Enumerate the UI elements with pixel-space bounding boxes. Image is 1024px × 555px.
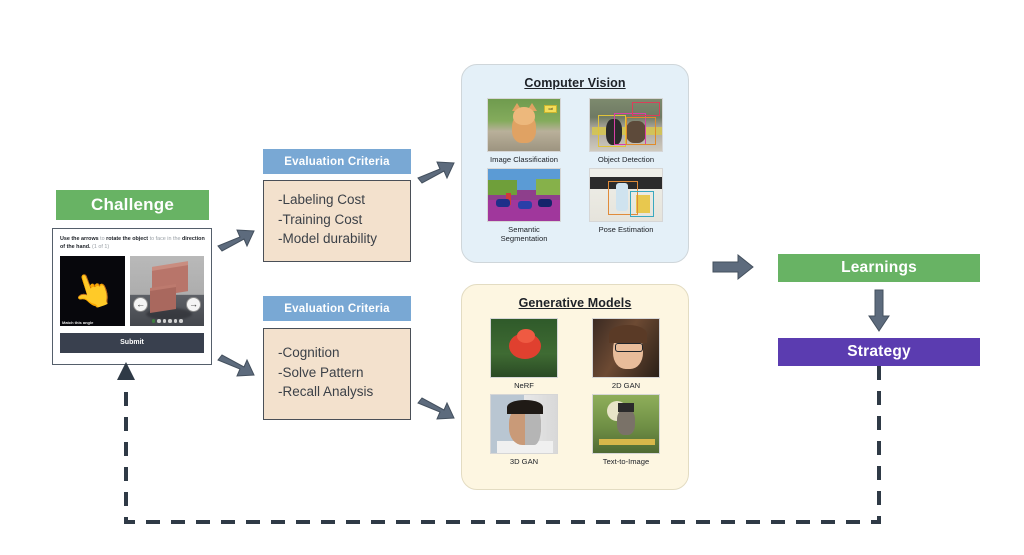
- tile-object-detection[interactable]: Object Detection: [586, 98, 666, 164]
- cat-head: [513, 107, 535, 125]
- semantic-segmentation-thumbnail: [487, 168, 561, 222]
- step-dot[interactable]: [179, 319, 183, 323]
- tile-label: Object Detection: [598, 156, 654, 164]
- pose-estimation-thumbnail: [589, 168, 663, 222]
- tile-label: Pose Estimation: [599, 226, 654, 234]
- rotation-step-dots: [130, 319, 204, 323]
- prompt-bold-rotate: rotate the object: [106, 236, 148, 242]
- segment-car: [518, 201, 532, 209]
- submit-button[interactable]: Submit: [60, 333, 204, 353]
- prompt-counter: (1 of 1): [91, 244, 110, 250]
- glasses-icon: [615, 343, 643, 352]
- criteria-item: -Labeling Cost: [278, 190, 410, 210]
- computer-vision-title: Computer Vision: [462, 76, 688, 90]
- segment-vegetation: [488, 180, 517, 196]
- bounding-box: [626, 117, 656, 145]
- challenge-panes: 👆 Match this angle ← →: [58, 256, 206, 326]
- arrow-challenge-to-vision-criteria: [216, 220, 256, 254]
- prompt-text-2: to face in the: [148, 236, 182, 242]
- tile-label: Semantic Segmentation: [484, 226, 564, 243]
- step-dot[interactable]: [163, 319, 167, 323]
- feedback-loop-connector: [110, 360, 900, 540]
- classification-label-tag: cat: [544, 105, 557, 113]
- vision-criteria-box: -Labeling Cost -Training Cost -Model dur…: [263, 180, 411, 262]
- object-detection-thumbnail: [589, 98, 663, 152]
- arrow-criteria-to-computer-vision: [416, 152, 456, 186]
- flower-shape: [517, 329, 535, 343]
- bounding-box: [632, 102, 660, 116]
- tile-semantic-segmentation[interactable]: Semantic Segmentation: [484, 168, 564, 243]
- segment-car: [538, 199, 552, 207]
- feedback-dashed-path: [126, 366, 879, 522]
- step-dot[interactable]: [157, 319, 161, 323]
- rotatable-object-viewer[interactable]: ← →: [130, 256, 204, 326]
- arrow-learnings-to-strategy: [866, 288, 892, 334]
- pose-wireframe: [630, 191, 654, 217]
- segment-vegetation: [536, 179, 560, 196]
- strategy-label: Strategy: [847, 343, 911, 361]
- hand-caption: Match this angle: [62, 320, 93, 325]
- prompt-bold-arrows: Use the arrows: [60, 236, 99, 242]
- rotate-right-button[interactable]: →: [186, 297, 201, 312]
- challenge-card[interactable]: Use the arrows to rotate the object to f…: [52, 228, 212, 365]
- segment-car: [496, 199, 510, 207]
- computer-vision-panel: Computer Vision cat Image Classification: [461, 64, 689, 263]
- pointing-hand-icon: 👆: [67, 268, 118, 313]
- generative-criteria-header: Evaluation Criteria: [263, 296, 411, 321]
- learnings-label: Learnings: [841, 259, 917, 277]
- criteria-item: -Model durability: [278, 229, 410, 249]
- vision-criteria-header: Evaluation Criteria: [263, 149, 411, 174]
- image-classification-thumbnail: cat: [487, 98, 561, 152]
- generated-hair: [609, 325, 647, 343]
- rotate-left-button[interactable]: ←: [133, 297, 148, 312]
- tile-pose-estimation[interactable]: Pose Estimation: [586, 168, 666, 243]
- arrow-to-learnings: [710, 252, 756, 282]
- hand-reference-image: 👆 Match this angle: [60, 256, 125, 326]
- step-dot[interactable]: [168, 319, 172, 323]
- tile-label: Image Classification: [490, 156, 558, 164]
- computer-vision-tiles: cat Image Classification Object Detectio…: [462, 90, 688, 243]
- generative-criteria-header-label: Evaluation Criteria: [284, 303, 389, 315]
- vision-criteria-header-label: Evaluation Criteria: [284, 156, 389, 168]
- generative-models-title: Generative Models: [462, 296, 688, 310]
- feedback-arrowhead: [117, 362, 135, 380]
- challenge-prompt: Use the arrows to rotate the object to f…: [60, 236, 205, 252]
- learnings-bar: Learnings: [778, 254, 980, 282]
- challenge-title: Challenge: [91, 195, 174, 215]
- challenge-title-bar: Challenge: [56, 190, 209, 220]
- step-dot[interactable]: [152, 319, 156, 323]
- tile-image-classification[interactable]: cat Image Classification: [484, 98, 564, 164]
- object-part-cab: [150, 287, 176, 313]
- step-dot[interactable]: [174, 319, 178, 323]
- criteria-item: -Training Cost: [278, 210, 410, 230]
